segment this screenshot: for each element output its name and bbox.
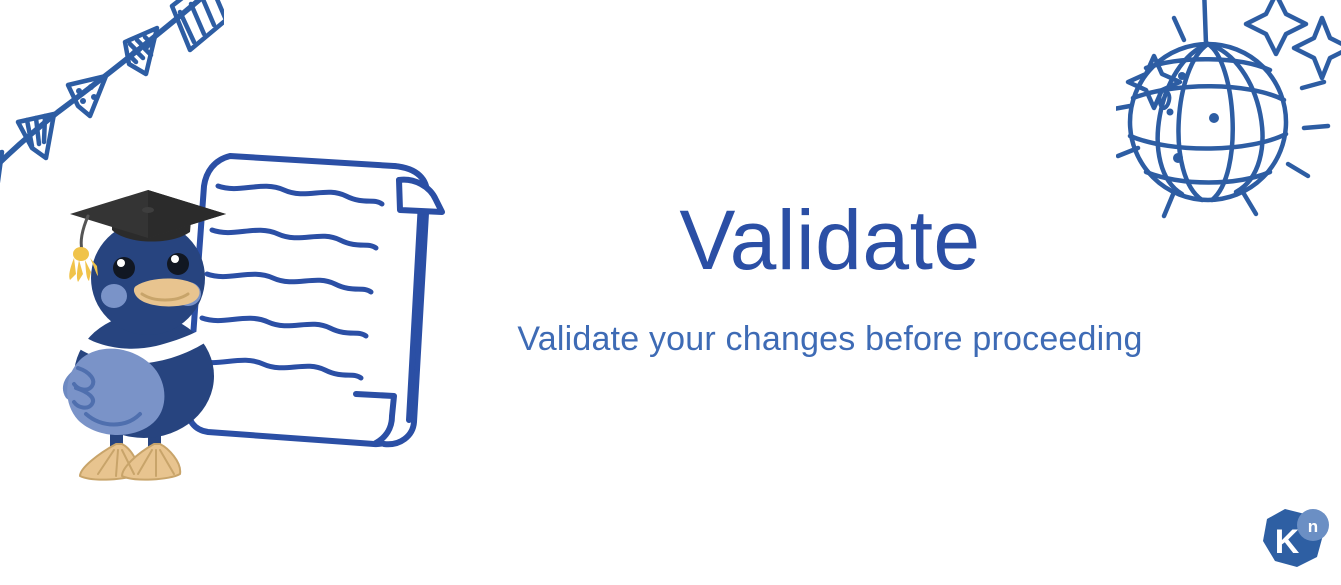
logo-letter-n: n	[1308, 517, 1318, 536]
disco-ball-icon	[1116, 0, 1341, 226]
certificate-scroll-icon	[178, 138, 474, 460]
kn-logo: K n	[1255, 505, 1331, 577]
logo-letter-k: K	[1275, 523, 1300, 561]
party-bunting-icon	[0, 0, 224, 207]
page-title: Validate	[480, 198, 1180, 282]
graduate-bird-mascot-icon	[52, 186, 238, 482]
headline-block: Validate Validate your changes before pr…	[480, 198, 1180, 359]
page-subtitle: Validate your changes before proceeding	[480, 320, 1180, 359]
slide-canvas: Validate Validate your changes before pr…	[0, 0, 1341, 585]
